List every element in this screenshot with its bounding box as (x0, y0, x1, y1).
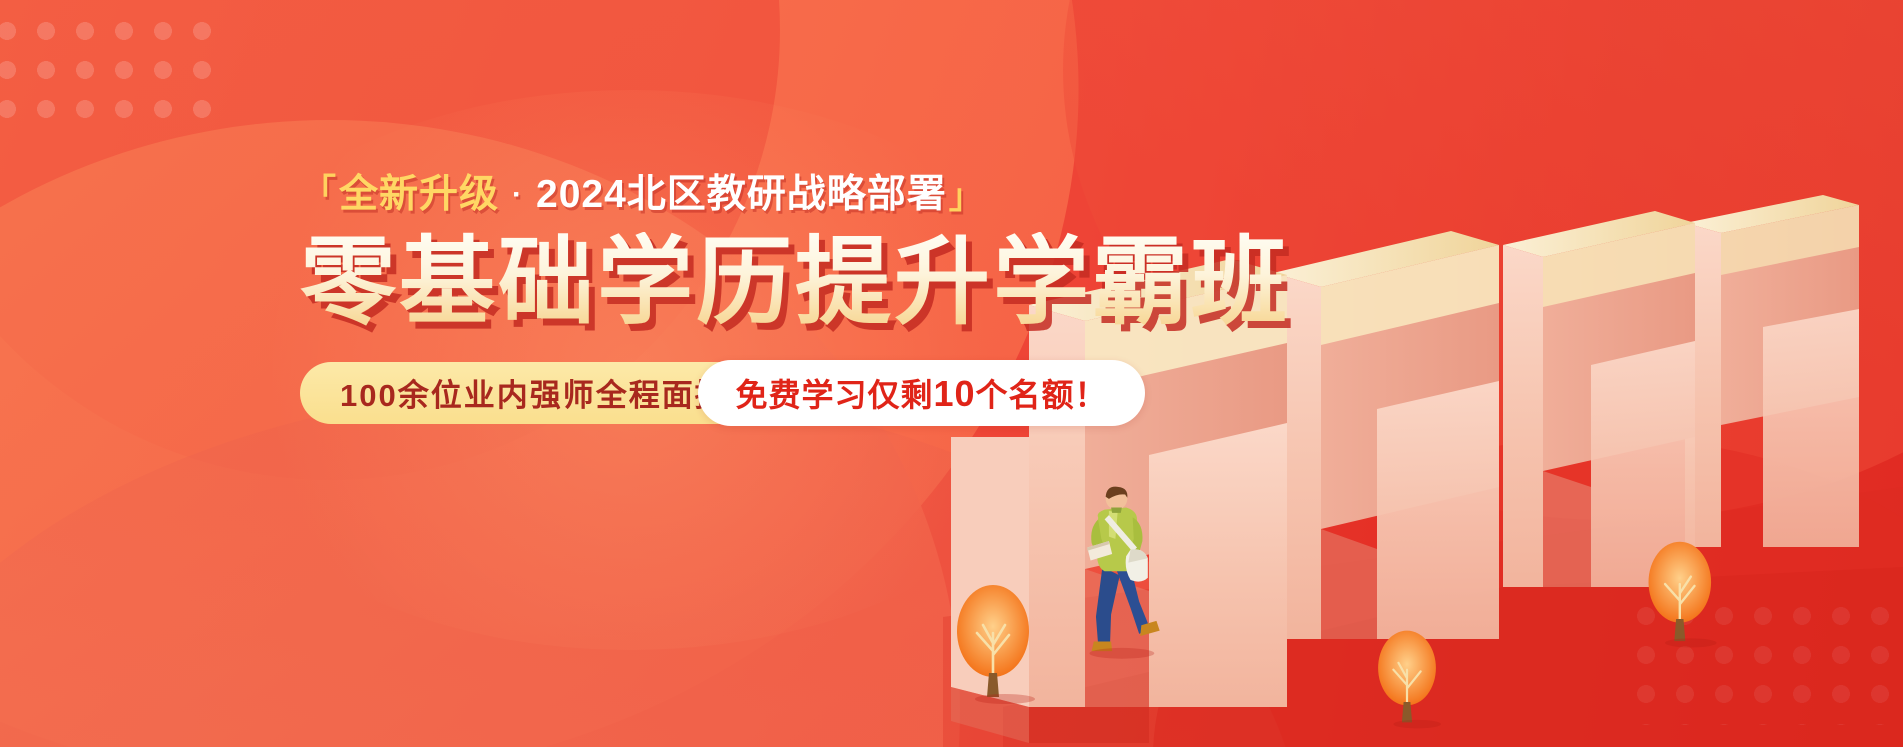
banner-subtitle: 「 全新升级 · 2024北区教研战略部署 」 (300, 175, 1290, 214)
bracket-close-icon: 」 (949, 180, 984, 214)
subtitle-gold-text: 全新升级 (339, 175, 499, 214)
pill-instructors-label: 100余位业内强师全程面授 (340, 370, 728, 415)
subtitle-separator-icon: · (512, 180, 523, 210)
pill-free-slots[interactable]: 免费学习仅剩10个名额！ (698, 360, 1145, 426)
pill-free-slots-suffix: 个名额！ (976, 377, 1108, 413)
feature-pill-row: 100余位业内强师全程面授 免费学习仅剩10个名额！ (300, 362, 1143, 424)
bracket-open-icon: 「 (302, 175, 337, 209)
archway-gate-4 (1685, 195, 1859, 547)
promo-banner: 「 全新升级 · 2024北区教研战略部署 」 零基础学历提升学霸班 100余位… (0, 0, 1903, 747)
archway-gate-3 (1503, 211, 1695, 587)
dot-grid-top-left-icon (0, 18, 216, 138)
archway-gate-2 (1273, 231, 1499, 639)
page-title: 零基础学历提升学霸班 (300, 232, 1290, 334)
banner-copy: 「 全新升级 · 2024北区教研战略部署 」 零基础学历提升学霸班 100余位… (300, 175, 1290, 424)
subtitle-white-text: 2024北区教研战略部署 (536, 175, 947, 214)
pill-free-slots-number: 10 (933, 373, 975, 414)
pill-free-slots-prefix: 免费学习仅剩 (735, 377, 933, 413)
pill-free-slots-label: 免费学习仅剩10个名额！ (735, 370, 1107, 416)
